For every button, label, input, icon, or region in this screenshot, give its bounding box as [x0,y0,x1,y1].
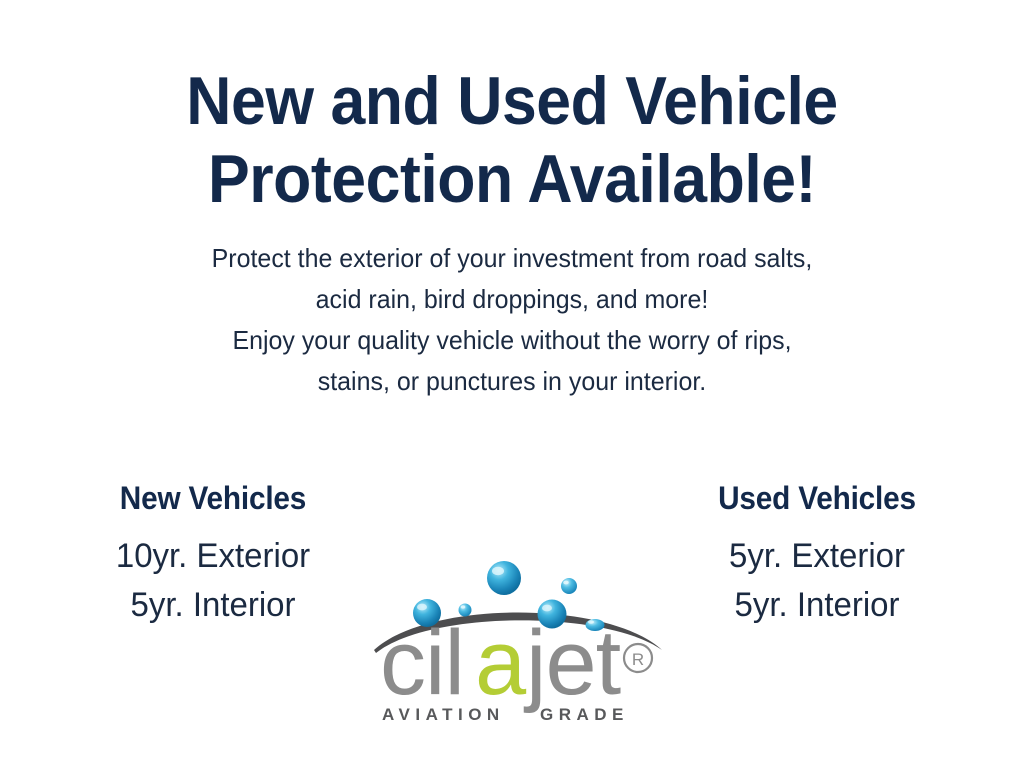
wordmark-letters-j-e-t: jet [523,612,621,714]
new-vehicles-exterior-term: 10yr. Exterior [53,532,373,581]
used-vehicles-exterior-term: 5yr. Exterior [657,532,977,581]
description-paragraph: Protect the exterior of your investment … [20,238,1003,402]
description-line-2: acid rain, bird droppings, and more! [20,279,1003,320]
description-line-4: stains, or punctures in your interior. [20,361,1003,402]
cilajet-wordmark: cil a jet R [380,612,652,714]
tagline-aviation: AVIATION [382,705,505,724]
tagline-grade: GRADE [540,705,629,724]
registered-trademark-icon: R [624,644,652,672]
page-title: New and Used Vehicle Protection Availabl… [41,62,983,218]
used-vehicles-column: Used Vehicles 5yr. Exterior 5yr. Interio… [652,478,982,630]
page-title-line-1: New and Used Vehicle [41,62,983,140]
wordmark-letter-a-accent: a [475,612,527,714]
description-line-3: Enjoy your quality vehicle without the w… [20,320,1003,361]
used-vehicles-heading: Used Vehicles [664,478,971,518]
cilajet-logo-svg: cil a jet R AVIATION GRADE [368,552,668,730]
used-vehicles-interior-term: 5yr. Interior [657,581,977,630]
new-vehicles-heading: New Vehicles [60,478,367,518]
cilajet-logo: cil a jet R AVIATION GRADE [368,552,668,730]
slide-canvas: New and Used Vehicle Protection Availabl… [0,0,1024,768]
new-vehicles-interior-term: 5yr. Interior [53,581,373,630]
svg-text:R: R [632,650,644,669]
description-line-1: Protect the exterior of your investment … [20,238,1003,279]
page-title-line-2: Protection Available! [41,140,983,218]
new-vehicles-column: New Vehicles 10yr. Exterior 5yr. Interio… [48,478,378,630]
wordmark-letters-c-i-l: cil [380,612,464,714]
